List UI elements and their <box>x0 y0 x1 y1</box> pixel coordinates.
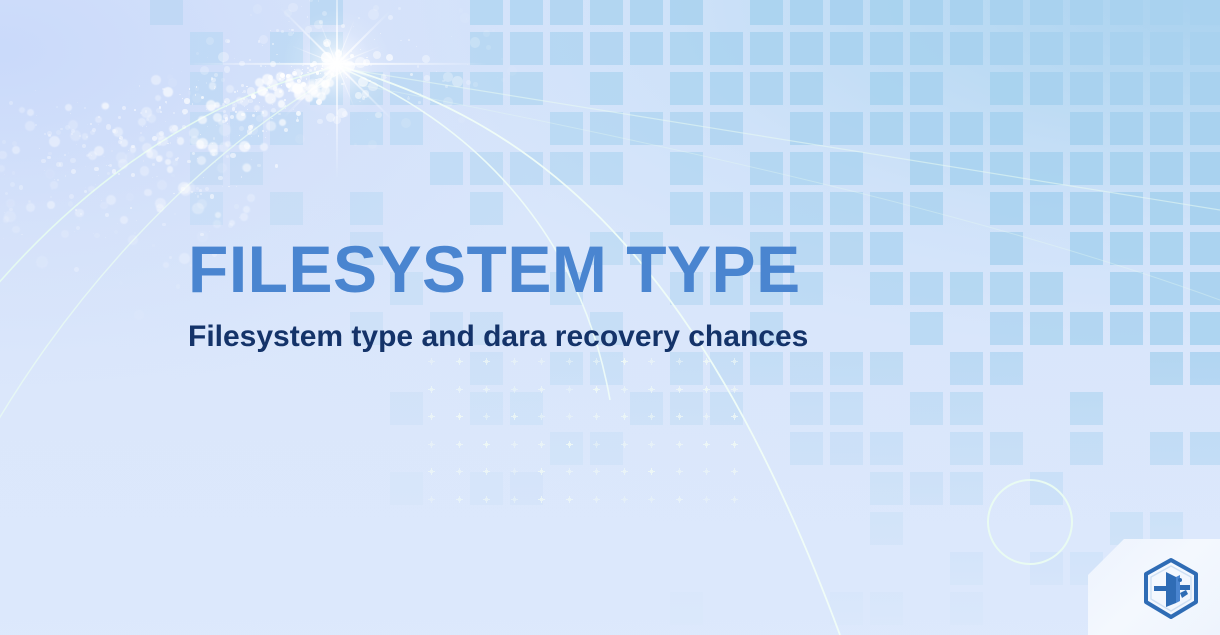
grid-dot <box>540 415 543 418</box>
grid-dot <box>595 415 598 418</box>
grid-dot <box>650 415 653 418</box>
grid-dot <box>485 415 488 418</box>
grid-dot <box>513 415 516 418</box>
grid-dot <box>650 470 653 473</box>
grid-dot <box>458 443 461 446</box>
grid-dot <box>623 388 626 391</box>
grid-dot <box>623 415 626 418</box>
grid-dot <box>458 498 461 501</box>
plus-dot-grid <box>430 360 750 505</box>
grid-dot <box>705 415 708 418</box>
grid-dot <box>650 360 653 363</box>
grid-dot <box>513 388 516 391</box>
grid-dot <box>568 470 571 473</box>
grid-dot <box>540 360 543 363</box>
grid-dot <box>430 388 433 391</box>
grid-dot <box>540 443 543 446</box>
grid-dot <box>595 360 598 363</box>
grid-dot <box>733 443 736 446</box>
grid-dot <box>623 360 626 363</box>
grid-dot <box>678 443 681 446</box>
grid-dot <box>733 388 736 391</box>
grid-dot <box>430 498 433 501</box>
grid-dot <box>650 498 653 501</box>
circle-outline <box>987 479 1073 565</box>
grid-dot <box>678 360 681 363</box>
grid-dot <box>678 498 681 501</box>
grid-dot <box>733 470 736 473</box>
grid-dot <box>430 360 433 363</box>
grid-dot <box>513 470 516 473</box>
grid-dot <box>595 470 598 473</box>
grid-dot <box>430 470 433 473</box>
grid-dot <box>595 443 598 446</box>
grid-dot <box>568 360 571 363</box>
page-subtitle: Filesystem type and dara recovery chance… <box>188 320 1048 353</box>
grid-dot <box>485 498 488 501</box>
grid-dot <box>540 498 543 501</box>
grid-dot <box>623 498 626 501</box>
grid-dot <box>458 415 461 418</box>
grid-dot <box>513 443 516 446</box>
grid-dot <box>458 388 461 391</box>
grid-dot <box>485 360 488 363</box>
grid-dot <box>650 388 653 391</box>
grid-dot <box>568 388 571 391</box>
grid-dot <box>485 388 488 391</box>
grid-dot <box>540 388 543 391</box>
grid-dot <box>678 388 681 391</box>
grid-dot <box>733 360 736 363</box>
grid-dot <box>458 360 461 363</box>
grid-dot <box>430 443 433 446</box>
grid-dot <box>458 470 461 473</box>
grid-dot <box>705 388 708 391</box>
grid-dot <box>733 415 736 418</box>
grid-dot <box>485 470 488 473</box>
grid-dot <box>430 415 433 418</box>
grid-dot <box>568 443 571 446</box>
page-title: FILESYSTEM TYPE <box>188 236 1048 302</box>
grid-dot <box>568 498 571 501</box>
grid-dot <box>705 470 708 473</box>
grid-dot <box>705 498 708 501</box>
hexagon-brand-logo <box>1140 557 1202 623</box>
grid-dot <box>540 470 543 473</box>
grid-dot <box>513 498 516 501</box>
title-slide: FILESYSTEM TYPE Filesystem type and dara… <box>0 0 1220 635</box>
grid-dot <box>733 498 736 501</box>
grid-dot <box>678 415 681 418</box>
grid-dot <box>513 360 516 363</box>
starburst-ray <box>336 0 339 179</box>
grid-dot <box>623 470 626 473</box>
grid-dot <box>595 498 598 501</box>
headline-block: FILESYSTEM TYPE Filesystem type and dara… <box>188 236 1048 353</box>
grid-dot <box>485 443 488 446</box>
grid-dot <box>705 360 708 363</box>
grid-dot <box>650 443 653 446</box>
grid-dot <box>678 470 681 473</box>
grid-dot <box>623 443 626 446</box>
grid-dot <box>595 388 598 391</box>
grid-dot <box>705 443 708 446</box>
grid-dot <box>568 415 571 418</box>
